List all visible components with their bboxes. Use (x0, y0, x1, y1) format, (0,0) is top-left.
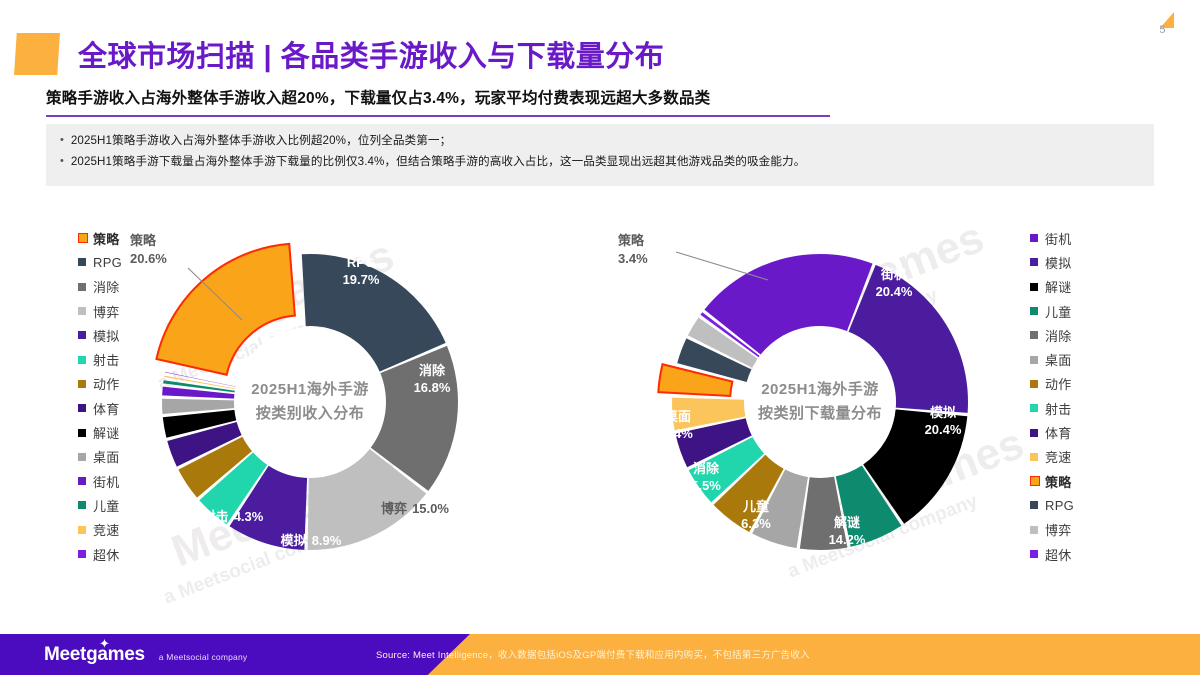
downloads-donut-svg (640, 210, 1000, 590)
legend-swatch-icon (78, 501, 86, 509)
legend-label: 超休 (93, 545, 120, 564)
legend-swatch-icon (78, 550, 86, 558)
legend-item-博弈[interactable]: 博弈 (1030, 518, 1114, 542)
subtitle-underline (46, 115, 830, 117)
page-number: 5 (1159, 24, 1166, 36)
downloads-callout-strategy: 策略 3.4% (618, 232, 648, 268)
legend-swatch-icon (1030, 258, 1038, 266)
legend-swatch-icon (78, 429, 86, 437)
legend-swatch-icon (1030, 453, 1038, 461)
bullet-item: • 2025H1策略手游下载量占海外整体手游下载量的比例仅3.4%，但结合策略手… (60, 154, 1154, 169)
legend-swatch-icon (1030, 526, 1038, 534)
legend-label: 体育 (93, 399, 120, 418)
callout-value: 20.6% (130, 250, 167, 268)
callout-value: 3.4% (618, 250, 648, 268)
legend-swatch-icon (1030, 380, 1038, 388)
legend-swatch-icon (78, 356, 86, 364)
brand-logo: Meetgames ✦ a Meetsocial company (44, 644, 247, 666)
logo-text: Meetgames (44, 644, 145, 666)
legend-item-竞速[interactable]: 竞速 (1030, 445, 1114, 469)
legend-label: 解谜 (1045, 277, 1072, 296)
legend-label: 策略 (1045, 472, 1072, 491)
legend-swatch-icon (1030, 429, 1038, 437)
legend-swatch-icon (78, 404, 86, 412)
legend-swatch-icon (1030, 307, 1038, 315)
legend-label: 解谜 (93, 423, 120, 442)
revenue-chart-block: 策略RPG消除博弈模拟射击动作体育解谜桌面街机儿童竞速超休 Meetgames … (30, 200, 590, 620)
logo-star-icon: ✦ (99, 636, 110, 652)
pie-slice-RPG[interactable] (302, 254, 446, 372)
callout-name: 策略 (130, 232, 167, 250)
legend-label: 桌面 (1045, 350, 1072, 369)
charts-area: 策略RPG消除博弈模拟射击动作体育解谜桌面街机儿童竞速超休 Meetgames … (0, 200, 1200, 620)
legend-swatch-icon (1030, 501, 1038, 509)
legend-swatch-icon (78, 477, 86, 485)
legend-label: 街机 (93, 472, 120, 491)
bullet-text: 2025H1策略手游收入占海外整体手游收入比例超20%，位列全品类第一； (71, 133, 451, 148)
pie-slice-模拟[interactable] (849, 265, 968, 413)
legend-item-射击[interactable]: 射击 (1030, 396, 1114, 420)
legend-label: 街机 (1045, 229, 1072, 248)
legend-label: 竞速 (1045, 447, 1072, 466)
legend-item-消除[interactable]: 消除 (1030, 323, 1114, 347)
revenue-donut-svg (130, 210, 490, 590)
legend-item-解谜[interactable]: 解谜 (1030, 275, 1114, 299)
legend-swatch-icon (1030, 331, 1038, 339)
legend-label: 超休 (1045, 545, 1072, 564)
legend-item-超休[interactable]: 超休 (1030, 542, 1114, 566)
legend-label: 射击 (93, 350, 120, 369)
downloads-chart-legend: 街机模拟解谜儿童消除桌面动作射击体育竞速策略RPG博弈超休 (1030, 226, 1114, 566)
page-subtitle: 策略手游收入占海外整体手游收入超20%，下载量仅占3.4%，玩家平均付费表现远超… (46, 86, 830, 108)
legend-item-策略[interactable]: 策略 (1030, 469, 1114, 493)
legend-item-街机[interactable]: 街机 (1030, 226, 1114, 250)
footer-bar: Meetgames ✦ a Meetsocial company Source:… (0, 634, 1200, 675)
legend-label: 模拟 (93, 326, 120, 345)
legend-label: 桌面 (93, 447, 120, 466)
legend-item-儿童[interactable]: 儿童 (1030, 299, 1114, 323)
pie-slice-街机[interactable] (162, 387, 234, 399)
key-findings-box: • 2025H1策略手游收入占海外整体手游收入比例超20%，位列全品类第一； •… (46, 124, 1154, 186)
downloads-chart-block: 街机模拟解谜儿童消除桌面动作射击体育竞速策略RPG博弈超休 Meetgames … (600, 200, 1160, 620)
legend-swatch-icon (78, 283, 86, 291)
legend-label: 策略 (93, 229, 120, 248)
legend-swatch-icon (1030, 550, 1038, 558)
legend-label: 消除 (93, 277, 120, 296)
callout-name: 策略 (618, 232, 648, 250)
legend-label: 儿童 (1045, 302, 1072, 321)
legend-swatch-icon (1030, 356, 1038, 364)
legend-label: 模拟 (1045, 253, 1072, 272)
legend-label: 儿童 (93, 496, 120, 515)
legend-swatch-icon (78, 331, 86, 339)
title-accent-bar (14, 33, 60, 75)
legend-label: RPG (93, 255, 122, 270)
legend-item-模拟[interactable]: 模拟 (1030, 250, 1114, 274)
legend-label: 动作 (1045, 374, 1072, 393)
legend-item-动作[interactable]: 动作 (1030, 372, 1114, 396)
legend-label: 体育 (1045, 423, 1072, 442)
legend-swatch-icon (78, 258, 86, 266)
legend-label: 消除 (1045, 326, 1072, 345)
footer-source-note: Source: Meet Intelligence，收入数据包括iOS及GP端付… (376, 647, 810, 661)
revenue-donut-chart: Meetgames a Meetsocial company Meetgames… (130, 210, 490, 590)
legend-label: 博弈 (1045, 520, 1072, 539)
legend-label: 动作 (93, 374, 120, 393)
revenue-callout-strategy: 策略 20.6% (130, 232, 167, 268)
corner-angle-icon (1154, 8, 1180, 34)
legend-label: 射击 (1045, 399, 1072, 418)
subtitle-block: 策略手游收入占海外整体手游收入超20%，下载量仅占3.4%，玩家平均付费表现远超… (46, 86, 830, 117)
legend-item-RPG[interactable]: RPG (1030, 493, 1114, 517)
legend-swatch-icon (1030, 234, 1038, 242)
legend-item-体育[interactable]: 体育 (1030, 420, 1114, 444)
legend-swatch-icon (78, 307, 86, 315)
downloads-donut-chart: Meetgames a Meetsocial company Meetgames… (640, 210, 1000, 590)
legend-swatch-icon (78, 526, 86, 534)
legend-swatch-icon (78, 380, 86, 388)
pie-slice-策略[interactable] (156, 244, 294, 375)
legend-item-桌面[interactable]: 桌面 (1030, 347, 1114, 371)
bullet-item: • 2025H1策略手游收入占海外整体手游收入比例超20%，位列全品类第一； (60, 133, 1154, 148)
legend-swatch-icon (78, 233, 88, 243)
bullet-dot-icon: • (60, 133, 64, 148)
legend-swatch-icon (1030, 283, 1038, 291)
legend-swatch-icon (1030, 476, 1040, 486)
slide: 5 全球市场扫描 | 各品类手游收入与下载量分布 策略手游收入占海外整体手游收入… (0, 0, 1200, 675)
legend-label: 竞速 (93, 520, 120, 539)
page-title-row: 全球市场扫描 | 各品类手游收入与下载量分布 (0, 30, 664, 78)
page-title: 全球市场扫描 | 各品类手游收入与下载量分布 (78, 33, 664, 75)
legend-label: RPG (1045, 498, 1074, 513)
logo-tagline: a Meetsocial company (159, 652, 248, 662)
legend-swatch-icon (78, 453, 86, 461)
bullet-dot-icon: • (60, 154, 64, 169)
legend-label: 博弈 (93, 302, 120, 321)
bullet-text: 2025H1策略手游下载量占海外整体手游下载量的比例仅3.4%，但结合策略手游的… (71, 154, 806, 169)
legend-swatch-icon (1030, 404, 1038, 412)
